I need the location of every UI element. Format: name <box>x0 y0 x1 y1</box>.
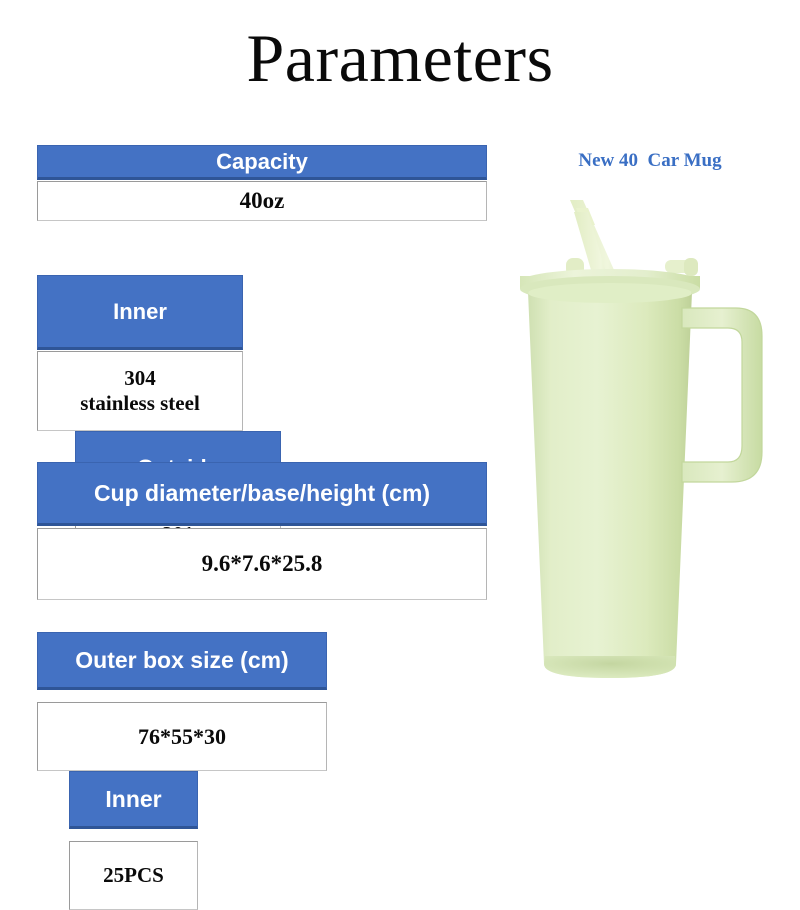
spec-value-line: 304 <box>80 366 200 391</box>
spec-value-inner-material: 304 stainless steel <box>37 351 243 431</box>
spec-cell-capacity: Capacity 40oz <box>37 145 487 221</box>
travel-mug-illustration <box>500 140 800 700</box>
spec-cell-cup-dimensions: Cup diameter/base/height (cm) 9.6*7.6*25… <box>37 462 487 600</box>
mug-body <box>528 283 692 678</box>
spec-value-outer-box-size: 76*55*30 <box>37 702 327 771</box>
spec-cell-inner-quantity: Inner 25PCS <box>69 771 198 910</box>
spec-value-capacity: 40oz <box>37 181 487 221</box>
mug-handle <box>682 308 762 482</box>
spec-header-inner-quantity: Inner <box>69 771 198 829</box>
table-row: Outer box size (cm) 76*55*30 Inner 25PCS <box>37 632 487 787</box>
page-title: Parameters <box>0 14 800 102</box>
spec-header-outer-box-size: Outer box size (cm) <box>37 632 327 690</box>
product-figure: New 40 Car Mug <box>500 140 800 700</box>
spec-cell-inner-material: Inner 304 stainless steel <box>37 275 243 431</box>
specifications-table: Capacity 40oz Inner 304 stainless steel … <box>37 145 487 787</box>
spec-header-cup-dimensions: Cup diameter/base/height (cm) <box>37 462 487 526</box>
spec-header-inner: Inner <box>37 275 243 350</box>
spec-value-inner-quantity: 25PCS <box>69 841 198 910</box>
table-row: Capacity 40oz <box>37 145 487 245</box>
table-row: Inner 304 stainless steel Outside 201 st… <box>37 275 487 437</box>
table-row: Cup diameter/base/height (cm) 9.6*7.6*25… <box>37 462 487 602</box>
spec-cell-outer-box-size: Outer box size (cm) 76*55*30 <box>37 632 327 771</box>
spec-header-capacity: Capacity <box>37 145 487 180</box>
spec-value-line: stainless steel <box>80 391 200 416</box>
spec-value-cup-dimensions: 9.6*7.6*25.8 <box>37 528 487 600</box>
